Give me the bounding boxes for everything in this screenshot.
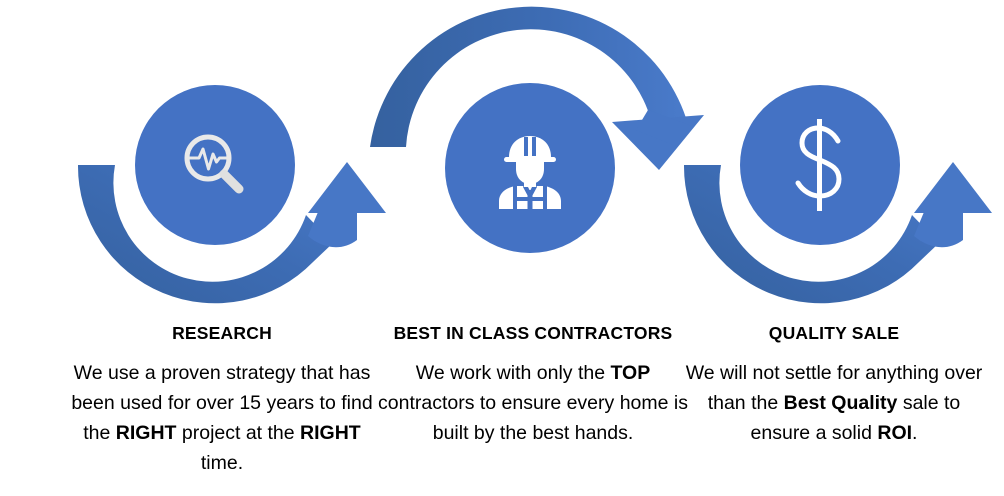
stage-heading-research: RESEARCH (62, 322, 382, 344)
stage-circle-research (135, 85, 295, 245)
stage-heading-sale: QUALITY SALE (684, 322, 984, 344)
process-infographic: RESEARCH We use a proven strategy that h… (0, 0, 1004, 496)
stage-text-contractors: BEST IN CLASS CONTRACTORS We work with o… (378, 322, 688, 448)
stage-body-research: We use a proven strategy that has been u… (62, 358, 382, 478)
stage-circle-sale (740, 85, 900, 245)
stage-body-sale: We will not settle for anything over tha… (684, 358, 984, 448)
stage-body-contractors: We work with only the TOP contractors to… (378, 358, 688, 448)
magnifier-pulse-icon (178, 128, 252, 202)
dollar-sign-icon (788, 117, 852, 213)
stage-text-research: RESEARCH We use a proven strategy that h… (62, 322, 382, 478)
stage-heading-contractors: BEST IN CLASS CONTRACTORS (378, 322, 688, 344)
stage-text-sale: QUALITY SALE We will not settle for anyt… (684, 322, 984, 448)
construction-worker-icon (491, 127, 569, 209)
stage-circle-contractors (445, 83, 615, 253)
